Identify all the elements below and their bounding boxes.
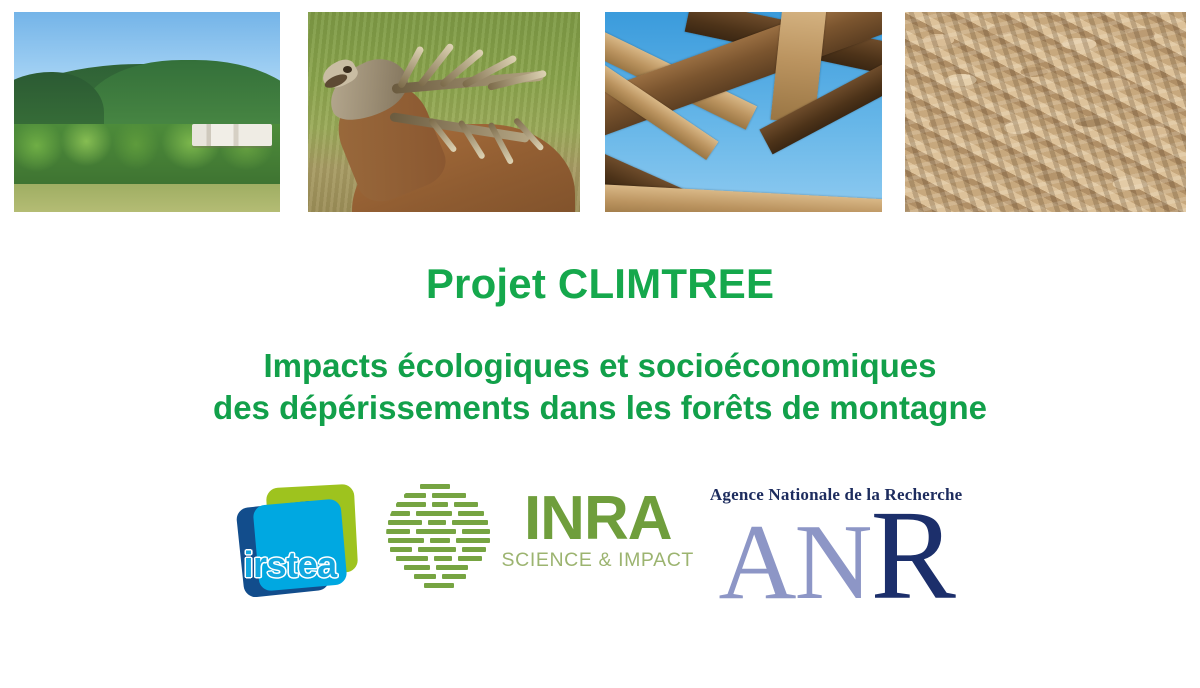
anr-wordmark: ANR (710, 501, 963, 610)
logo-inra: INRA SCIENCE & IMPACT (386, 478, 694, 592)
photo-bellowing-red-deer-stag (308, 12, 580, 212)
page-title: Projet CLIMTREE (0, 250, 1200, 307)
title-block: Projet CLIMTREE Impacts écologiques et s… (0, 250, 1200, 429)
photo-strip (0, 12, 1200, 212)
photo-timber-roof-frame (605, 12, 882, 212)
anr-letter-n: N (794, 503, 870, 622)
inra-text-block: INRA SCIENCE & IMPACT (502, 478, 694, 572)
subtitle-line-1: Impacts écologiques et socioéconomiques (0, 307, 1200, 387)
anr-letter-r: R (870, 484, 953, 626)
subtitle-line-2: des dépérissements dans les forêts de mo… (0, 387, 1200, 429)
wood-chips-texture (905, 12, 1186, 212)
irstea-wordmark: irstea (244, 544, 368, 586)
logo-irstea: irstea (238, 482, 368, 600)
photo-wood-chips-pile (905, 12, 1186, 212)
inra-tagline: SCIENCE & IMPACT (502, 549, 694, 572)
logo-row: irstea (0, 472, 1200, 632)
anr-letter-a: A (718, 503, 794, 622)
foreground-field (14, 184, 280, 212)
inra-circle-mark (386, 480, 496, 592)
photo-mountain-forest-landscape (14, 12, 280, 212)
logo-anr: Agence Nationale de la Recherche ANR (710, 486, 963, 610)
inra-wordmark: INRA (502, 490, 694, 547)
village-buildings (192, 124, 272, 146)
